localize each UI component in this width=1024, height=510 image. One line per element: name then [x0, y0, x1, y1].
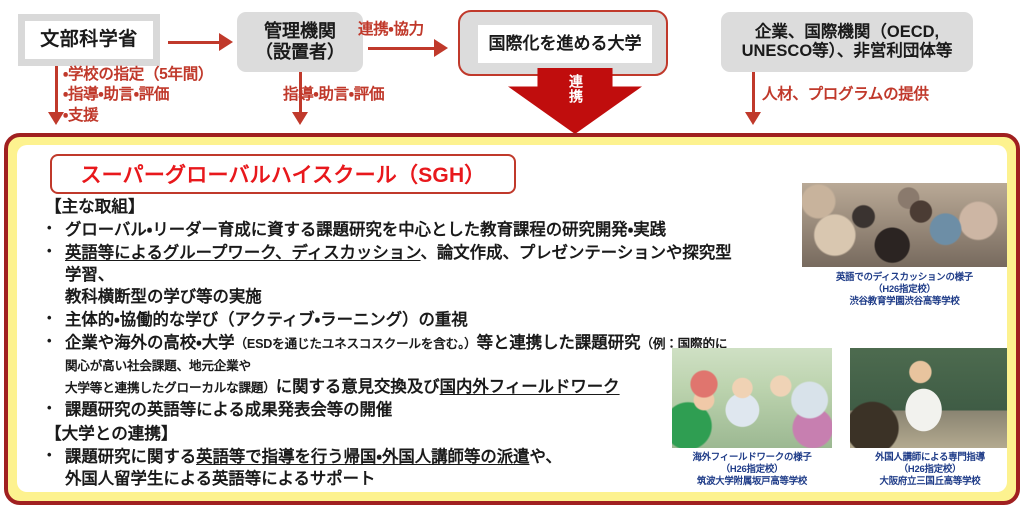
text-run: 英語等によるグループワーク、ディスカッション: [65, 244, 421, 262]
photo-overseas-fieldwork-image: [672, 348, 832, 448]
bullet-item: 課題研究の英語等による成果発表会等の開催: [39, 400, 739, 422]
arrow-companies-to-panel: [745, 112, 761, 125]
box-companies-label: 企業、国際機関（OECD, UNESCO等）、非営利団体等: [742, 23, 953, 62]
bullet-line: 外国人留学生による英語等によるサポート: [65, 469, 739, 491]
caption-english-discussion-line3: 渋谷教育学園渋谷高等学校: [802, 295, 1007, 307]
text-run: に関する意見交換及び: [276, 378, 440, 396]
sgh-title-text: スーパーグローバルハイスクール（SGH）: [80, 159, 485, 189]
section-heading: 【大学との連携】: [45, 423, 739, 445]
text-run: 等と連携した課題研究: [477, 334, 641, 352]
bullet-line: 英語等によるグループワーク、ディスカッション、論文作成、プレゼンテーションや探究…: [65, 243, 739, 287]
arrow-managing-body-to-university: [434, 39, 448, 57]
connector-ministry-to-panel: [55, 66, 58, 114]
sgh-panel: スーパーグローバルハイスクール（SGH） 【主な取組】グローバル・リーダー育成に…: [4, 133, 1020, 505]
label-companies-to-panel: 人材、プログラムの提供: [762, 85, 929, 105]
text-run: や、: [530, 448, 562, 466]
text-run: 企業や海外の高校・大学: [65, 334, 234, 352]
bullet-line: グローバル・リーダー育成に資する課題研究を中心とした教育課程の研究開発・実践: [65, 220, 739, 242]
bullet-line: 主体的・協働的な学び（アクティブ・ラーニング）の重視: [65, 310, 739, 332]
caption-english-discussion-line2: （H26指定校）: [802, 283, 1007, 295]
caption-overseas-fieldwork-line3: 筑波大学附属坂戸高等学校: [672, 475, 832, 487]
label-renkei: 連携: [567, 74, 583, 104]
label-managing-body-to-panel: 指導・助言・評価: [283, 85, 384, 105]
caption-foreign-lecturer: 外国人講師による専門指導 （H26指定校） 大阪府立三国丘高等学校: [850, 451, 1007, 487]
photo-english-discussion-image: [802, 183, 1007, 267]
caption-foreign-lecturer-line2: （H26指定校）: [850, 463, 1007, 475]
text-run: 課題研究に関する: [65, 448, 196, 466]
section-heading: 【主な取組】: [45, 196, 739, 218]
label-ministry-to-panel: ・学校の指定（5年間） ・指導・助言・評価 ・支援: [63, 65, 213, 126]
sgh-panel-inner: スーパーグローバルハイスクール（SGH） 【主な取組】グローバル・リーダー育成に…: [17, 145, 1007, 492]
text-run: 国内外フィールドワーク: [440, 378, 620, 396]
text-run: 英語等で指導を行う帰国・外国人講師等の派遣: [196, 448, 529, 466]
caption-overseas-fieldwork-line2: （H26指定校）: [672, 463, 832, 475]
box-managing-body: 管理機関 （設置者）: [237, 12, 363, 72]
text-run: グローバル・リーダー育成に資する課題研究を中心とした教育課程の研究開発・実践: [65, 221, 666, 239]
connector-companies-to-panel: [752, 72, 755, 114]
caption-foreign-lecturer-line1: 外国人講師による専門指導: [850, 451, 1007, 463]
caption-english-discussion: 英語でのディスカッションの様子 （H26指定校） 渋谷教育学園渋谷高等学校: [802, 271, 1007, 307]
bullet-line: 課題研究に関する英語等で指導を行う帰国・外国人講師等の派遣や、: [65, 447, 739, 469]
box-companies-international-orgs: 企業、国際機関（OECD, UNESCO等）、非営利団体等: [721, 12, 973, 72]
box-university-inner: 国際化を進める大学: [478, 25, 652, 63]
bullet-item: 英語等によるグループワーク、ディスカッション、論文作成、プレゼンテーションや探究…: [39, 243, 739, 308]
text-run: 主体的・協働的な学び（アクティブ・ラーニング）の重視: [65, 311, 468, 329]
bullet-line: 教科横断型の学び等の実施: [65, 287, 739, 309]
bullet-item: 企業や海外の高校・大学（ESDを通じたユネスコスクールを含む。）等と連携した課題…: [39, 333, 739, 398]
bullet-line: 課題研究の英語等による成果発表会等の開催: [65, 400, 739, 422]
box-managing-body-label: 管理機関 （設置者）: [255, 21, 345, 63]
photo-foreign-lecturer-image: [850, 348, 1007, 448]
photo-foreign-lecturer: [850, 348, 1007, 448]
photo-english-discussion: [802, 183, 1007, 267]
connector-managing-body-to-university: [368, 47, 438, 50]
text-run: 課題研究の英語等による成果発表会等の開催: [65, 401, 392, 419]
caption-english-discussion-line1: 英語でのディスカッションの様子: [802, 271, 1007, 283]
bullet-line: 企業や海外の高校・大学（ESDを通じたユネスコスクールを含む。）等と連携した課題…: [65, 333, 739, 377]
label-cooperation: 連携・協力: [358, 20, 424, 40]
photo-overseas-fieldwork: [672, 348, 832, 448]
caption-foreign-lecturer-line3: 大阪府立三国丘高等学校: [850, 475, 1007, 487]
sgh-content: 【主な取組】グローバル・リーダー育成に資する課題研究を中心とした教育課程の研究開…: [39, 195, 739, 492]
box-ministry-label: 文部科学省: [40, 29, 138, 51]
sgh-title: スーパーグローバルハイスクール（SGH）: [50, 154, 516, 194]
box-ministry-of-education: 文部科学省: [18, 14, 160, 66]
bullet-line: 大学等と連携したグローカルな課題）に関する意見交換及び国内外フィールドワーク: [65, 377, 739, 399]
arrow-ministry-to-panel: [48, 112, 64, 125]
caption-overseas-fieldwork: 海外フィールドワークの様子 （H26指定校） 筑波大学附属坂戸高等学校: [672, 451, 832, 487]
arrow-ministry-to-managing-body: [219, 33, 233, 51]
text-run: 大学等と連携したグローカルな課題）: [65, 381, 276, 395]
box-internationalizing-university: 国際化を進める大学: [458, 10, 668, 76]
bullet-item: 主体的・協働的な学び（アクティブ・ラーニング）の重視: [39, 310, 739, 332]
arrow-managing-body-to-panel: [292, 112, 308, 125]
connector-ministry-to-managing-body: [168, 41, 222, 44]
arrow-university-to-panel: 連携: [508, 68, 642, 134]
box-university-label: 国際化を進める大学: [489, 34, 642, 54]
text-run: 外国人留学生による英語等によるサポート: [65, 470, 375, 488]
text-run: 教科横断型の学び等の実施: [65, 288, 262, 306]
bullet-item: グローバル・リーダー育成に資する課題研究を中心とした教育課程の研究開発・実践: [39, 220, 739, 242]
caption-overseas-fieldwork-line1: 海外フィールドワークの様子: [672, 451, 832, 463]
bullet-item: 課題研究に関する英語等で指導を行う帰国・外国人講師等の派遣や、外国人留学生による…: [39, 447, 739, 491]
text-run: （ESDを通じたユネスコスクールを含む。）: [234, 337, 476, 351]
